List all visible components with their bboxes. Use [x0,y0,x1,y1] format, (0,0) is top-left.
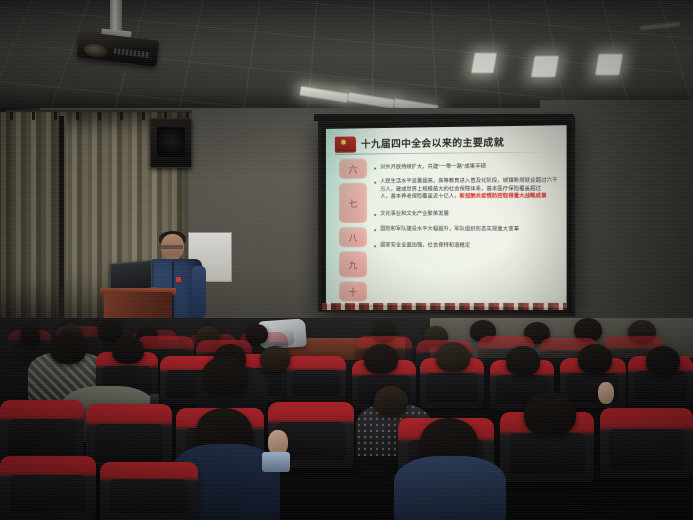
party-flag-icon [335,136,356,150]
presentation-slide: 十九届四中全会以来的主要成就 六 七 八 九 十 对外开放持续扩大，共建“一带一… [326,125,567,308]
auditorium-seat [600,408,693,478]
slide-number-box: 七 [339,183,367,223]
slide-number-column: 六 七 八 九 十 [335,159,367,300]
audience-head [364,344,398,374]
audience-head [436,342,470,372]
slide-bullet-highlight: 新冠肺炎疫情防控取得重大战略成果 [460,193,547,199]
projection-screen-surface: 十九届四中全会以来的主要成就 六 七 八 九 十 对外开放持续扩大，共建“一带一… [326,125,567,308]
slide-number-box: 六 [339,159,367,179]
red-lapel-pin-icon [176,277,181,282]
audience-head [20,326,40,345]
slide-title-divider [335,151,559,154]
fluorescent-light-panel [531,56,559,77]
auditorium-seat [0,456,96,520]
audience-head [374,386,408,416]
slide-bullet-text: 文化事业和文化产业繁荣发展 [380,210,449,216]
slide-number-box: 十 [339,281,367,301]
auditorium-seat [100,462,198,520]
audience-head [506,346,540,376]
audience-head [260,346,290,372]
slide-bullet-text: 国防和军队建设水平大幅提升，军队组织形态实现重大变革 [380,226,519,232]
slide-header: 十九届四中全会以来的主要成就 [335,132,559,152]
slide-bullet: 国家安全全面加强，社会保持和谐稳定 [373,238,559,252]
screen-bottom-banner [322,303,566,310]
audience-shoulders [394,456,506,520]
slide-bullet-text: 国家安全全面加强，社会保持和谐稳定 [380,243,470,250]
slide-body: 六 七 八 九 十 对外开放持续扩大，共建“一带一路”成果丰硕 人民生活水平显著… [335,157,559,303]
curtain-gap [59,116,64,321]
audience-head [112,336,144,364]
auditorium-seat [0,400,84,464]
slide-bullet-column: 对外开放持续扩大，共建“一带一路”成果丰硕 人民生活水平显著提高，高等教育进入普… [373,157,559,303]
audience-head [246,324,268,344]
audience-head [50,332,86,364]
projection-screen: 十九届四中全会以来的主要成就 六 七 八 九 十 对外开放持续扩大，共建“一带一… [318,117,575,317]
slide-title: 十九届四中全会以来的主要成就 [361,134,504,150]
window-curtains-secondary [0,112,66,324]
audience-head [578,344,612,374]
audience-head [202,356,248,396]
slide-bullet: 人民生活水平显著提高，高等教育进入普及化阶段，城镇新增就业超过六千万人，建成世界… [373,175,559,202]
slide-bullet: 国防和军队建设水平大幅提升，军队组织形态实现重大变革 [373,222,559,234]
fluorescent-light-panel [471,53,497,73]
audience-head [524,392,576,436]
audience-hand [598,382,614,404]
auditorium-seat [86,404,172,470]
auditorium-photo: 十九届四中全会以来的主要成就 六 七 八 九 十 对外开放持续扩大，共建“一带一… [0,0,693,520]
auditorium-seat [286,356,346,402]
slide-bullet: 文化事业和文化产业繁荣发展 [373,205,559,218]
glasses-icon [161,245,183,249]
slide-bullet: 对外开放持续扩大，共建“一带一路”成果丰硕 [373,157,559,172]
fluorescent-light-panel [595,54,623,75]
slide-number-box: 九 [339,251,367,277]
audience-head [646,346,680,376]
slide-number-box: 八 [339,227,367,247]
shirt-cuff [262,452,290,472]
presenter-arm [192,266,206,318]
wall-speaker-icon [150,118,192,168]
slide-bullet-text: 对外开放持续扩大，共建“一带一路”成果丰硕 [380,163,486,170]
